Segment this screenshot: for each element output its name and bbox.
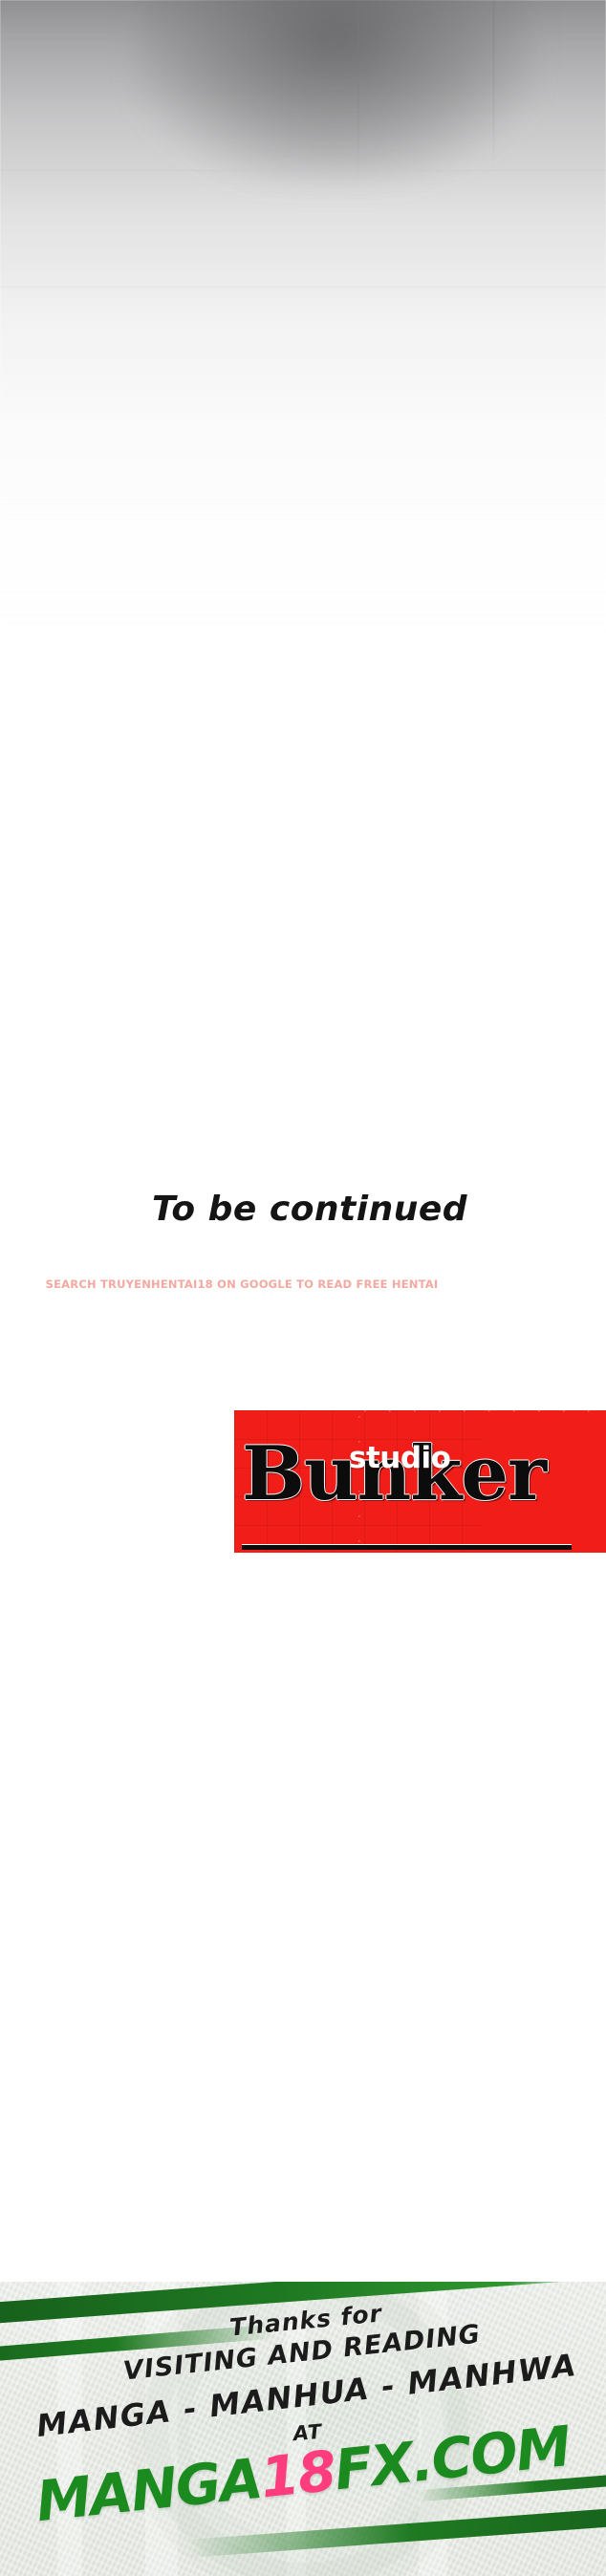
panel-seam-line [493, 0, 494, 177]
site-watermark-text: SEARCH TRUYENHENTAI18 ON GOOGLE TO READ … [0, 1277, 606, 1291]
panel-seam-line [363, 0, 364, 86]
logo-underline-bar [242, 1545, 572, 1550]
panel-blurred-wall [0, 0, 606, 726]
to-be-continued-text: To be continued [0, 1190, 606, 1229]
comic-page: To be continued SEARCH TRUYENHENTAI18 ON… [0, 0, 606, 2576]
panel-seam-line [0, 170, 606, 171]
studio-bunker-logo: Bunker studio [234, 1410, 606, 1553]
panel-seam-line [0, 287, 606, 288]
logo-wordmark-studio: studio [349, 1441, 450, 1475]
panel-shadow [134, 0, 535, 182]
url-part-18: 18 [257, 2438, 337, 2511]
panel-seam-line [357, 0, 358, 191]
